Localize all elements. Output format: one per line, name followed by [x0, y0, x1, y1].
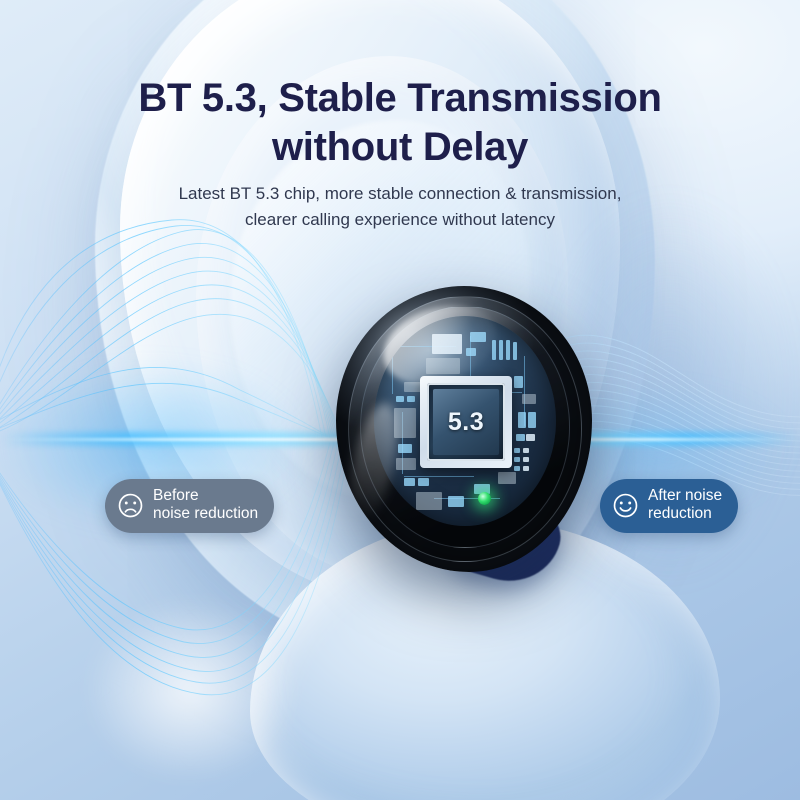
- chip-version-label: 5.3: [448, 408, 484, 437]
- headline-line-1: BT 5.3, Stable Transmission: [138, 76, 661, 120]
- badge-after-noise-reduction: After noise reduction: [600, 479, 738, 533]
- badge-after-line-1: After noise: [648, 487, 722, 504]
- chip-frame: 5.3: [427, 383, 505, 461]
- bluetooth-chip: 5.3: [420, 376, 512, 468]
- badge-before-noise-reduction: Before noise reduction: [105, 479, 274, 533]
- earbud-product-image: 5.3: [330, 282, 598, 582]
- page-title: BT 5.3, Stable Transmission without Dela…: [0, 74, 800, 172]
- page-subtitle: Latest BT 5.3 chip, more stable connecti…: [0, 181, 800, 234]
- badge-before-line-1: Before: [153, 487, 199, 504]
- headline-line-2: without Delay: [0, 123, 800, 172]
- badge-before-line-2: noise reduction: [153, 505, 258, 523]
- chip-die: 5.3: [433, 389, 499, 455]
- badge-after-text: After noise reduction: [648, 487, 722, 524]
- subtitle-line-1: Latest BT 5.3 chip, more stable connecti…: [179, 184, 622, 203]
- badge-before-text: Before noise reduction: [153, 487, 258, 524]
- status-led-indicator: [478, 492, 491, 505]
- promo-banner: 5.3 BT 5.3, Stable Transmission without …: [0, 0, 800, 800]
- subtitle-line-2: clearer calling experience without laten…: [0, 207, 800, 233]
- frowning-face-icon: [117, 492, 144, 519]
- badge-after-line-2: reduction: [648, 505, 722, 523]
- smiling-face-icon: [612, 492, 639, 519]
